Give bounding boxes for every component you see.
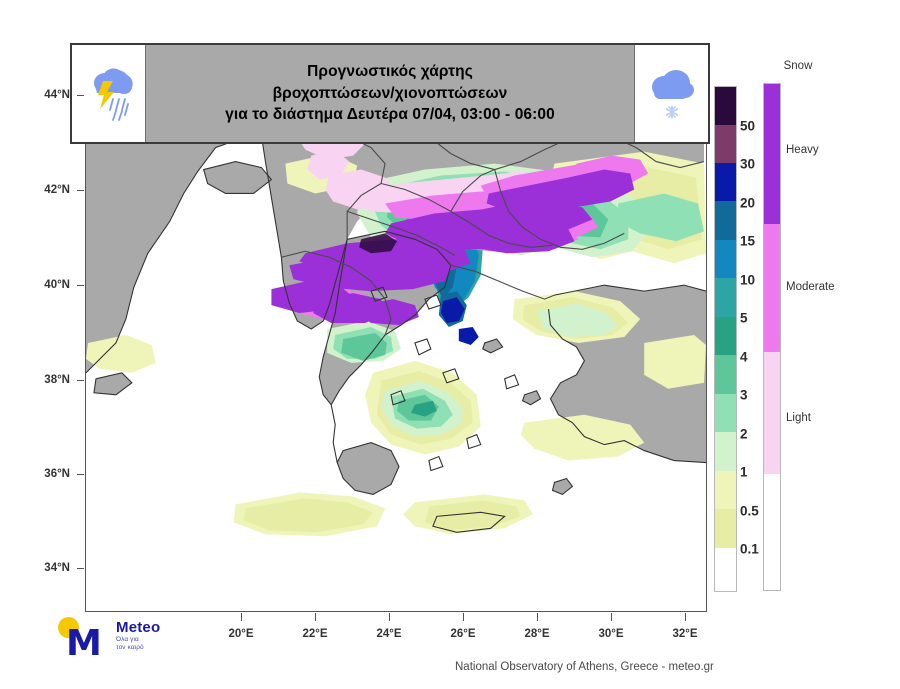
lon-tick-22: 22°E (302, 628, 327, 640)
snow-swatch-heavy (764, 84, 780, 224)
logo-tagline-1: Όλα για (116, 636, 160, 644)
snow-label-moderate: Moderate (786, 281, 835, 293)
precip-label-1: 1 (740, 465, 748, 480)
footer-credit: National Observatory of Athens, Greece -… (455, 661, 714, 673)
snow-label-heavy: Heavy (786, 144, 819, 156)
logo-tagline-2: τον καιρό (116, 644, 160, 652)
precip-label-30: 30 (740, 157, 755, 172)
logo-wordmark: Meteo Όλα για τον καιρό (116, 620, 160, 652)
precip-swatch-50 (715, 125, 736, 163)
logo-letter-m: M (66, 626, 101, 662)
snow-colorbar[interactable] (763, 83, 781, 591)
lat-tick-mark (77, 474, 84, 475)
lon-tick-24: 24°E (376, 628, 401, 640)
lat-tick-mark (77, 380, 84, 381)
lon-tick-20: 20°E (228, 628, 253, 640)
map-title-banner: Προγνωστικός χάρτης βροχοπτώσεων/χιονοπτ… (70, 43, 710, 144)
lon-tick-30: 30°E (598, 628, 623, 640)
precip-swatch-max (715, 87, 736, 125)
thunderstorm-rain-cloud-icon (72, 45, 146, 142)
lat-tick-mark (77, 190, 84, 191)
precip-swatch-2 (715, 432, 736, 471)
latitude-axis: 44°N 42°N 40°N 38°N 36°N 34°N (22, 0, 70, 689)
precip-label-20: 20 (740, 196, 755, 211)
lat-tick-34: 34°N (44, 562, 70, 574)
snow-legend-title: Snow (762, 60, 834, 72)
lat-tick-mark (77, 285, 84, 286)
lat-tick-44: 44°N (44, 89, 70, 101)
lat-tick-38: 38°N (44, 374, 70, 386)
precip-swatch-1 (715, 471, 736, 509)
lat-tick-40: 40°N (44, 279, 70, 291)
title-line-1: Προγνωστικός χάρτης (307, 62, 473, 82)
forecast-map-page: Προγνωστικός χάρτης βροχοπτώσεων/χιονοπτ… (0, 0, 900, 689)
precipitation-colorbar[interactable] (714, 86, 737, 592)
snow-swatch-light (764, 352, 780, 474)
precip-label-0.5: 0.5 (740, 504, 759, 519)
precip-swatch-20 (715, 201, 736, 240)
precip-label-5: 5 (740, 311, 748, 326)
precip-label-50: 50 (740, 119, 755, 134)
title-text-block: Προγνωστικός χάρτης βροχοπτώσεων/χιονοπτ… (146, 45, 634, 142)
lat-tick-mark (77, 95, 84, 96)
precip-label-2: 2 (740, 427, 748, 442)
snow-label-light: Light (786, 412, 811, 424)
snow-cloud-icon (634, 45, 708, 142)
precip-swatch-5 (715, 317, 736, 355)
lon-tick-28: 28°E (524, 628, 549, 640)
title-line-3: για το διάστημα Δευτέρα 07/04, 03:00 - 0… (225, 105, 555, 125)
precip-swatch-15 (715, 240, 736, 278)
precip-swatch-4 (715, 355, 736, 394)
precip-label-0.1: 0.1 (740, 542, 759, 557)
precip-label-10: 10 (740, 273, 755, 288)
precip-label-4: 4 (740, 350, 748, 365)
lat-tick-mark (77, 568, 84, 569)
logo-brand-name: Meteo (116, 620, 160, 636)
precip-swatch-10 (715, 278, 736, 317)
precip-swatch-0.5 (715, 509, 736, 548)
lat-tick-36: 36°N (44, 468, 70, 480)
precip-swatch-3 (715, 394, 736, 432)
precip-swatch-0.1 (715, 548, 736, 591)
precip-label-15: 15 (740, 234, 755, 249)
precip-swatch-30 (715, 163, 736, 201)
snow-swatch-none (764, 474, 780, 590)
meteo-logo[interactable]: M Meteo Όλα για τον καιρό (56, 612, 206, 660)
precip-label-3: 3 (740, 388, 748, 403)
snow-swatch-moderate (764, 224, 780, 352)
title-line-2: βροχοπτώσεων/χιονοπτώσεων (273, 84, 508, 104)
logo-mark: M (56, 614, 116, 658)
lon-tick-26: 26°E (450, 628, 475, 640)
lon-tick-32: 32°E (672, 628, 697, 640)
lat-tick-42: 42°N (44, 184, 70, 196)
